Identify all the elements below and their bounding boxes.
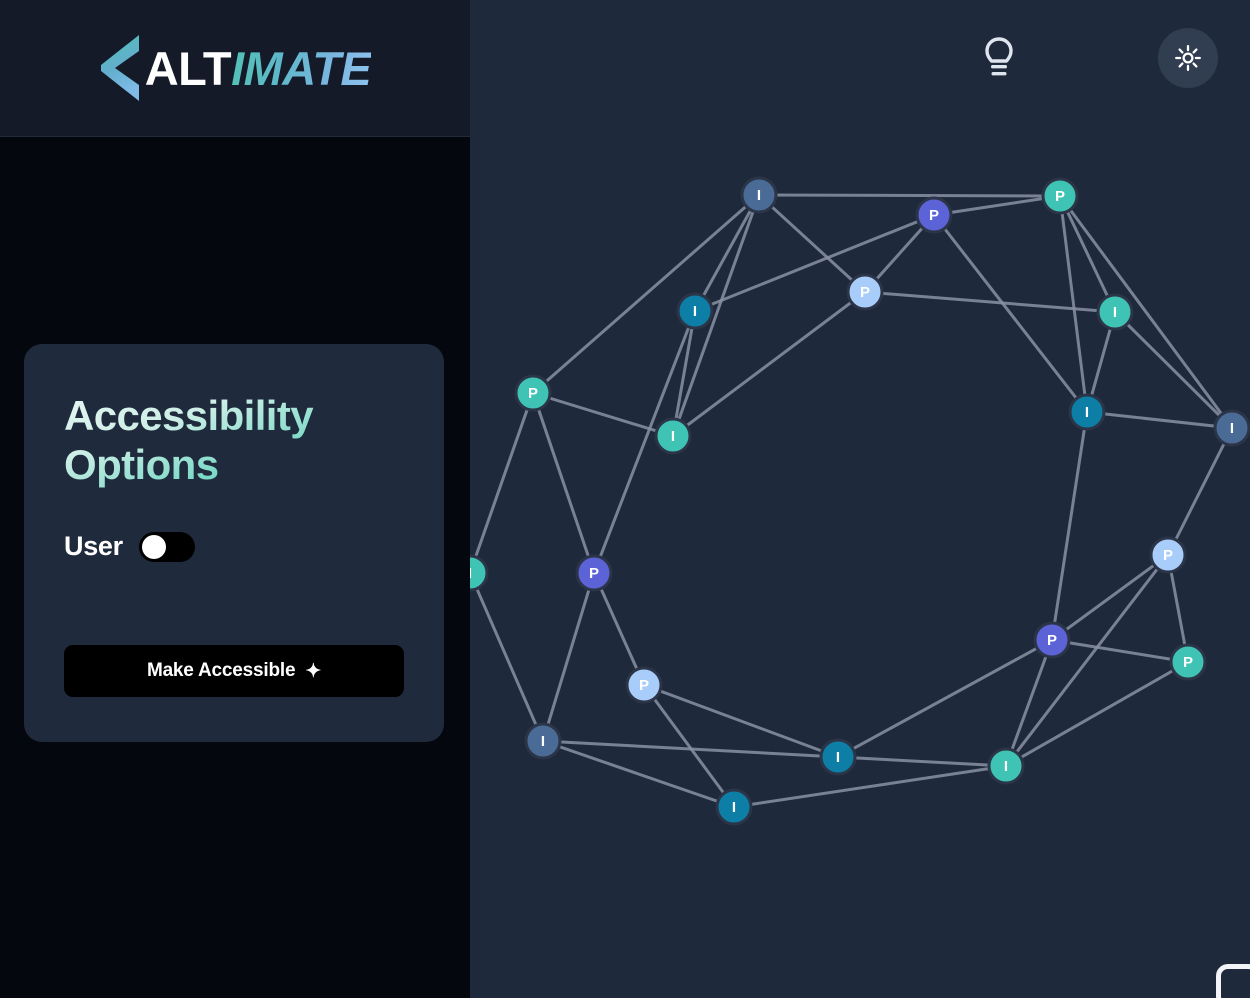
- corner-resize-widget[interactable]: [1216, 964, 1250, 998]
- page-title: Accessibility Options: [64, 392, 404, 489]
- graph-node[interactable]: I: [470, 556, 487, 590]
- graph-edge: [734, 766, 1006, 807]
- make-accessible-button-label: Make Accessible: [147, 660, 295, 682]
- graph-edge: [865, 292, 1115, 312]
- graph-edge: [1006, 555, 1168, 766]
- graph-edge: [673, 311, 695, 436]
- graph-edge: [1006, 662, 1188, 766]
- graph-edge: [695, 215, 934, 311]
- user-toggle-label: User: [64, 531, 123, 562]
- graph-node[interactable]: I: [526, 724, 560, 758]
- graph-node-circle[interactable]: [470, 556, 487, 590]
- graph-node-circle[interactable]: [516, 376, 550, 410]
- graph-node-circle[interactable]: [717, 790, 751, 824]
- graph-node-circle[interactable]: [1215, 411, 1249, 445]
- graph-node[interactable]: P: [1043, 179, 1077, 213]
- graph-node[interactable]: P: [917, 198, 951, 232]
- graph-edge: [934, 215, 1087, 412]
- graph-edge: [1168, 428, 1232, 555]
- graph-edge: [838, 757, 1006, 766]
- graph-node[interactable]: P: [1171, 645, 1205, 679]
- altimate-logo[interactable]: ALTIMATE: [99, 34, 372, 102]
- graph-edge: [470, 573, 543, 741]
- graph-edge: [1052, 555, 1168, 640]
- chevron-left-icon: [99, 34, 143, 102]
- graph-edge: [543, 741, 838, 757]
- network-graph[interactable]: IPPIPIPIIIPPPPPIIIII: [470, 0, 1250, 998]
- sidebar-header: ALTIMATE: [0, 0, 470, 137]
- graph-node[interactable]: I: [678, 294, 712, 328]
- graph-node-circle[interactable]: [989, 749, 1023, 783]
- graph-node-circle[interactable]: [821, 740, 855, 774]
- graph-node-circle[interactable]: [1098, 295, 1132, 329]
- graph-edge: [1087, 412, 1232, 428]
- sun-brightness-icon: [1174, 44, 1202, 72]
- graph-edge: [838, 640, 1052, 757]
- graph-node[interactable]: I: [1070, 395, 1104, 429]
- graph-node-circle[interactable]: [656, 419, 690, 453]
- graph-node-circle[interactable]: [1070, 395, 1104, 429]
- graph-node-circle[interactable]: [627, 668, 661, 702]
- graph-node[interactable]: I: [717, 790, 751, 824]
- graph-edge: [470, 393, 533, 573]
- user-toggle-row: User: [64, 531, 404, 562]
- logo-text-alt: ALT: [145, 42, 231, 95]
- graph-edge: [1052, 412, 1087, 640]
- logo-text-imate: IMATE: [231, 42, 371, 95]
- brightness-toggle-button[interactable]: [1158, 28, 1218, 88]
- graph-node-circle[interactable]: [577, 556, 611, 590]
- graph-node[interactable]: P: [516, 376, 550, 410]
- graph-node[interactable]: P: [1035, 623, 1069, 657]
- graph-edge: [1006, 640, 1052, 766]
- toggle-knob: [142, 535, 166, 559]
- graph-node-circle[interactable]: [1035, 623, 1069, 657]
- lightbulb-icon[interactable]: [982, 36, 1016, 80]
- app-root: ALTIMATE Accessibility Options User Make…: [0, 0, 1250, 998]
- sparkle-icon: ✦: [305, 662, 321, 681]
- graph-edge: [695, 195, 759, 311]
- graph-edge: [543, 573, 594, 741]
- graph-node[interactable]: P: [848, 275, 882, 309]
- graph-edge: [533, 393, 673, 436]
- graph-node[interactable]: I: [742, 178, 776, 212]
- graph-node[interactable]: I: [656, 419, 690, 453]
- make-accessible-button[interactable]: Make Accessible ✦: [64, 645, 404, 697]
- graph-edge: [759, 195, 1060, 196]
- graph-edge: [533, 393, 594, 573]
- graph-node[interactable]: P: [577, 556, 611, 590]
- graph-node-circle[interactable]: [1043, 179, 1077, 213]
- graph-node-circle[interactable]: [1171, 645, 1205, 679]
- graph-edge: [934, 196, 1060, 215]
- user-toggle-switch[interactable]: [139, 532, 195, 562]
- graph-node[interactable]: P: [1151, 538, 1185, 572]
- graph-node[interactable]: I: [1098, 295, 1132, 329]
- graph-node[interactable]: P: [627, 668, 661, 702]
- graph-node[interactable]: I: [1215, 411, 1249, 445]
- graph-edge: [644, 685, 838, 757]
- graph-edge: [1115, 312, 1232, 428]
- graph-canvas-area: IPPIPIPIIIPPPPPIIIII: [470, 0, 1250, 998]
- accessibility-options-panel: Accessibility Options User Make Accessib…: [24, 344, 444, 742]
- graph-node-circle[interactable]: [742, 178, 776, 212]
- graph-nodes: IPPIPIPIIIPPPPPIIIII: [470, 178, 1249, 824]
- graph-node-circle[interactable]: [917, 198, 951, 232]
- graph-node-circle[interactable]: [526, 724, 560, 758]
- graph-node[interactable]: I: [821, 740, 855, 774]
- graph-node[interactable]: I: [989, 749, 1023, 783]
- graph-edge: [1052, 640, 1188, 662]
- logo-wordmark: ALTIMATE: [145, 45, 372, 92]
- graph-node-circle[interactable]: [678, 294, 712, 328]
- sidebar: ALTIMATE Accessibility Options User Make…: [0, 0, 470, 998]
- graph-node-circle[interactable]: [848, 275, 882, 309]
- graph-node-circle[interactable]: [1151, 538, 1185, 572]
